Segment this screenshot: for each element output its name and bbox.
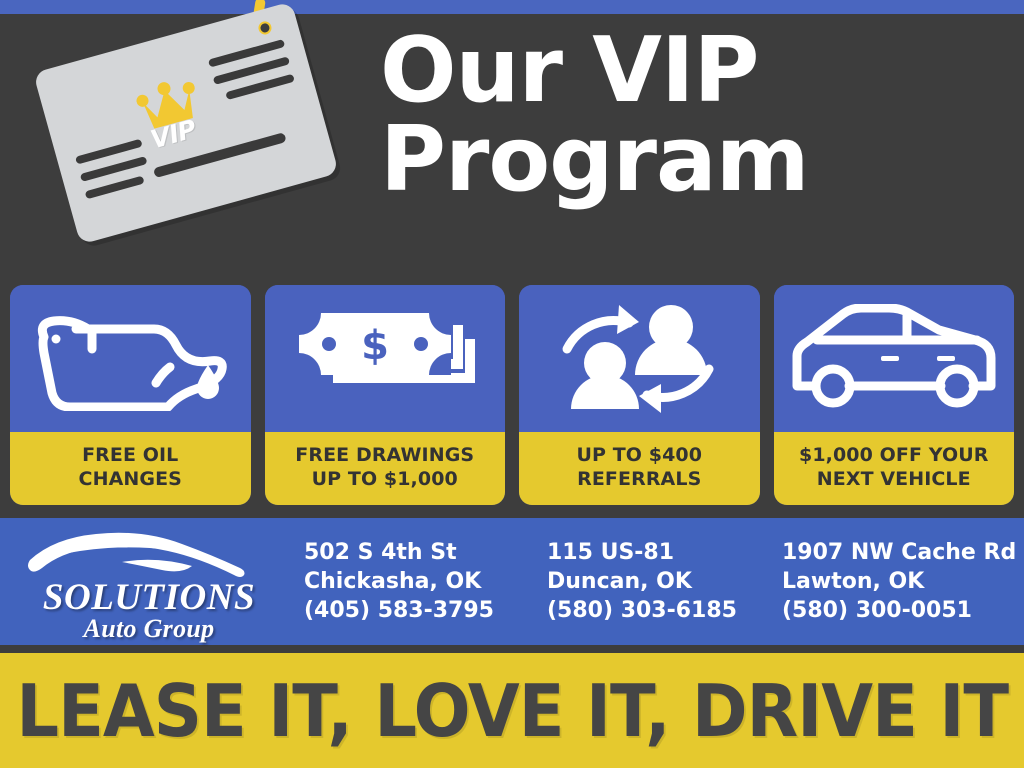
location-item[interactable]: 1907 NW Cache Rd Lawton, OK (580) 300-00… (782, 538, 1024, 626)
car-swoosh-logo-icon (26, 530, 256, 582)
location-street: 1907 NW Cache Rd (782, 538, 1024, 567)
location-street: 502 S 4th St (304, 538, 547, 567)
badge-line (85, 176, 145, 200)
location-item[interactable]: 115 US-81 Duncan, OK (580) 303-6185 (547, 538, 782, 626)
benefit-card-label: UP TO $400 REFERRALS (519, 432, 760, 505)
footer-bar: SOLUTIONS Auto Group 502 S 4th St Chicka… (0, 518, 1024, 645)
car-icon (774, 285, 1015, 432)
benefit-card-label: $1,000 OFF YOUR NEXT VEHICLE (774, 432, 1015, 505)
vip-badge-card-icon: VIP (33, 1, 339, 244)
tagline-text: LEASE IT, LOVE IT, DRIVE IT (16, 669, 1008, 753)
locations-list: 502 S 4th St Chickasha, OK (405) 583-379… (288, 538, 1024, 626)
page-title-line-1: Our VIP (380, 26, 990, 115)
benefit-label-line-2: REFERRALS (577, 468, 701, 490)
location-phone[interactable]: (580) 300-0051 (782, 596, 1024, 625)
benefit-label-line-2: CHANGES (79, 468, 182, 490)
top-accent-strip (0, 0, 1024, 14)
tagline-banner: LEASE IT, LOVE IT, DRIVE IT (0, 653, 1024, 768)
location-phone[interactable]: (405) 583-3795 (304, 596, 547, 625)
location-city: Chickasha, OK (304, 567, 547, 596)
benefits-card-row: FREE OIL CHANGES (10, 285, 1014, 505)
page-title-line-2: Program (380, 115, 990, 204)
benefit-label-line-1: FREE OIL (82, 444, 178, 466)
referral-people-icon (519, 285, 760, 432)
benefit-card-referrals[interactable]: UP TO $400 REFERRALS (519, 285, 760, 505)
location-city: Duncan, OK (547, 567, 782, 596)
location-city: Lawton, OK (782, 567, 1024, 596)
page-title: Our VIP Program (380, 26, 990, 204)
company-logo[interactable]: SOLUTIONS Auto Group (18, 526, 288, 638)
benefit-card-free-drawings[interactable]: $ FREE DRAWINGS UP TO $1,000 (265, 285, 506, 505)
vip-program-flyer: VIP Our VIP Program (0, 0, 1024, 768)
vip-badge-illustration: VIP (34, 14, 334, 274)
oil-can-icon (10, 285, 251, 432)
hero-section: VIP Our VIP Program (0, 14, 1024, 285)
benefit-label-line-1: FREE DRAWINGS (295, 444, 474, 466)
cash-money-icon: $ (265, 285, 506, 432)
badge-hole (257, 20, 273, 36)
benefit-card-label: FREE DRAWINGS UP TO $1,000 (265, 432, 506, 505)
benefit-card-free-oil-changes[interactable]: FREE OIL CHANGES (10, 285, 251, 505)
benefit-card-next-vehicle[interactable]: $1,000 OFF YOUR NEXT VEHICLE (774, 285, 1015, 505)
logo-tagline: Auto Group (24, 614, 274, 644)
location-item[interactable]: 502 S 4th St Chickasha, OK (405) 583-379… (304, 538, 547, 626)
location-street: 115 US-81 (547, 538, 782, 567)
svg-text:$: $ (361, 323, 389, 369)
benefit-card-label: FREE OIL CHANGES (10, 432, 251, 505)
benefit-label-line-2: NEXT VEHICLE (817, 468, 971, 490)
benefit-label-line-2: UP TO $1,000 (312, 468, 458, 490)
benefit-label-line-1: UP TO $400 (576, 444, 702, 466)
location-phone[interactable]: (580) 303-6185 (547, 596, 782, 625)
logo-company-name: SOLUTIONS (24, 576, 274, 619)
benefit-label-line-1: $1,000 OFF YOUR (799, 444, 988, 466)
